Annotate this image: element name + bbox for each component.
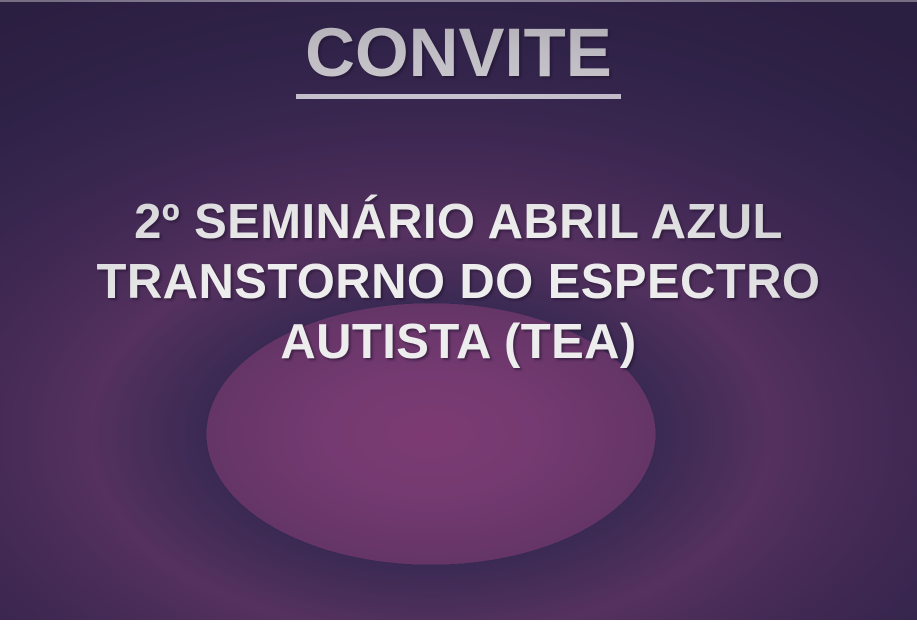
slide-title: CONVITE — [296, 18, 621, 99]
slide-subtitle-line-1: 2º SEMINÁRIO ABRIL AZUL — [0, 192, 917, 252]
slide-bottom-strip — [0, 620, 917, 634]
slide-subtitle-line-2: TRANSTORNO DO ESPECTRO — [0, 252, 917, 312]
slide-subtitle-container: 2º SEMINÁRIO ABRIL AZUL TRANSTORNO DO ES… — [0, 192, 917, 372]
slide-text-layer: CONVITE 2º SEMINÁRIO ABRIL AZUL TRANSTOR… — [0, 0, 917, 620]
slide-subtitle-line-3: AUTISTA (TEA) — [0, 312, 917, 372]
slide-title-container: CONVITE — [0, 18, 917, 99]
presentation-slide: CONVITE 2º SEMINÁRIO ABRIL AZUL TRANSTOR… — [0, 0, 917, 620]
